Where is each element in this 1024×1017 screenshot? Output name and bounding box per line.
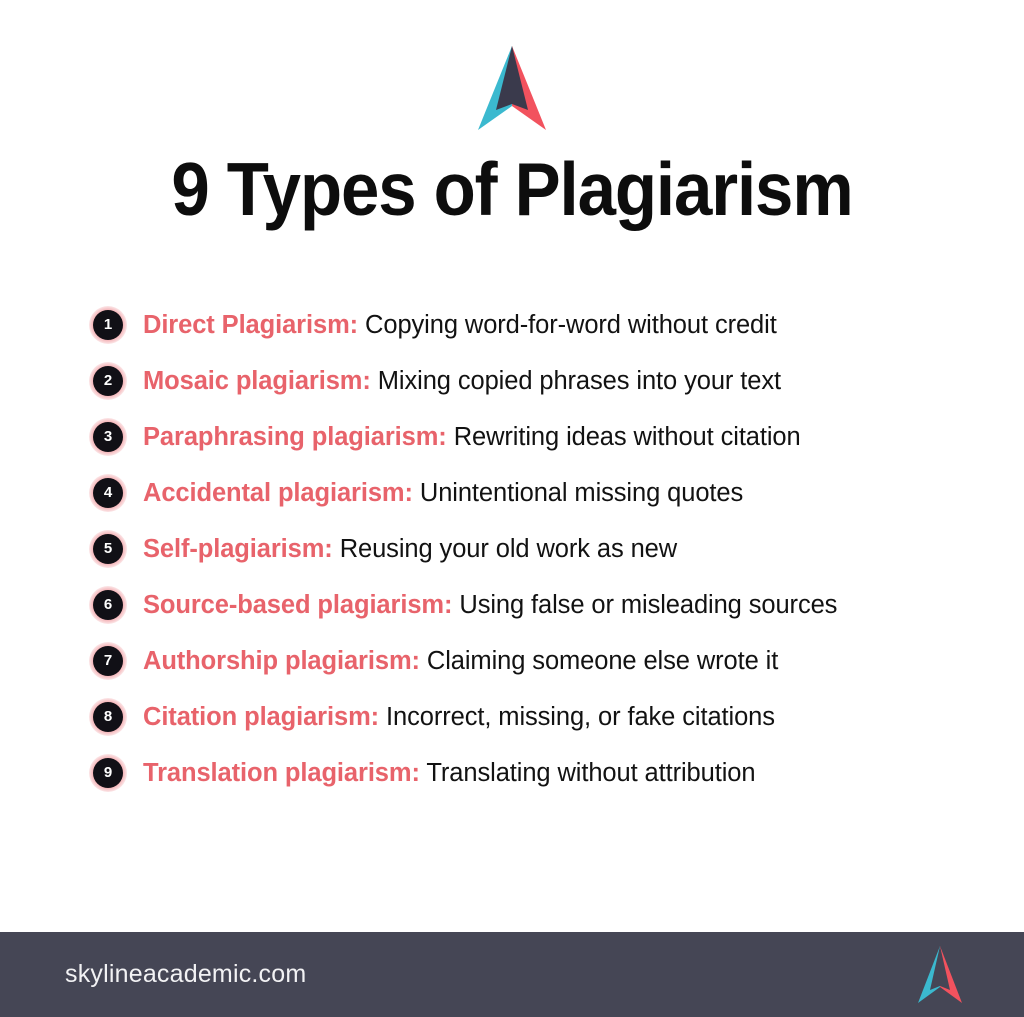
page-title-container: 9 Types of Plagiarism <box>0 152 1024 227</box>
list-item-label: Direct Plagiarism: <box>143 311 358 339</box>
list-item: 6 Source-based plagiarism: Using false o… <box>92 577 984 633</box>
list-item-number: 3 <box>93 422 123 452</box>
list-item-text: Source-based plagiarism: Using false or … <box>143 591 837 619</box>
list-item-number: 1 <box>93 310 123 340</box>
list-item-text: Self-plagiarism: Reusing your old work a… <box>143 535 677 563</box>
list-item-text: Accidental plagiarism: Unintentional mis… <box>143 479 743 507</box>
list-item: 4 Accidental plagiarism: Unintentional m… <box>92 465 984 521</box>
list-item-text: Authorship plagiarism: Claiming someone … <box>143 647 778 675</box>
plagiarism-types-list: 1 Direct Plagiarism: Copying word-for-wo… <box>92 297 984 801</box>
list-item-text: Citation plagiarism: Incorrect, missing,… <box>143 703 775 731</box>
list-item-number: 5 <box>93 534 123 564</box>
list-item-description: Rewriting ideas without citation <box>454 423 801 451</box>
list-item: 3 Paraphrasing plagiarism: Rewriting ide… <box>92 409 984 465</box>
list-item: 2 Mosaic plagiarism: Mixing copied phras… <box>92 353 984 409</box>
list-item-label: Self-plagiarism: <box>143 535 333 563</box>
list-item-badge: 5 <box>92 533 124 565</box>
list-item-description: Mixing copied phrases into your text <box>378 367 781 395</box>
list-item-label: Mosaic plagiarism: <box>143 367 371 395</box>
list-item-description: Translating without attribution <box>426 759 755 787</box>
list-item-badge: 4 <box>92 477 124 509</box>
list-item-number: 9 <box>93 758 123 788</box>
list-item-label: Source-based plagiarism: <box>143 591 452 619</box>
list-item-badge: 3 <box>92 421 124 453</box>
list-item-description: Claiming someone else wrote it <box>427 647 778 675</box>
list-item: 5 Self-plagiarism: Reusing your old work… <box>92 521 984 577</box>
list-item-badge: 8 <box>92 701 124 733</box>
list-item-text: Translation plagiarism: Translating with… <box>143 759 755 787</box>
list-item: 9 Translation plagiarism: Translating wi… <box>92 745 984 801</box>
list-item-badge: 6 <box>92 589 124 621</box>
skyline-arrow-logo-small-icon <box>914 945 966 1005</box>
list-item-badge: 9 <box>92 757 124 789</box>
list-item-label: Paraphrasing plagiarism: <box>143 423 447 451</box>
list-item-number: 7 <box>93 646 123 676</box>
list-item-badge: 7 <box>92 645 124 677</box>
list-item: 1 Direct Plagiarism: Copying word-for-wo… <box>92 297 984 353</box>
list-item-description: Incorrect, missing, or fake citations <box>386 703 775 731</box>
list-item-badge: 1 <box>92 309 124 341</box>
list-item-description: Reusing your old work as new <box>340 535 677 563</box>
list-item: 7 Authorship plagiarism: Claiming someon… <box>92 633 984 689</box>
list-item-number: 4 <box>93 478 123 508</box>
list-item-badge: 2 <box>92 365 124 397</box>
list-item-number: 6 <box>93 590 123 620</box>
list-item-description: Unintentional missing quotes <box>420 479 743 507</box>
infographic-poster: 9 Types of Plagiarism 1 Direct Plagiaris… <box>0 0 1024 1017</box>
skyline-arrow-logo-icon <box>470 44 554 132</box>
list-item-number: 2 <box>93 366 123 396</box>
list-item-label: Citation plagiarism: <box>143 703 379 731</box>
list-item-description: Using false or misleading sources <box>459 591 837 619</box>
list-item-text: Mosaic plagiarism: Mixing copied phrases… <box>143 367 781 395</box>
list-item-text: Direct Plagiarism: Copying word-for-word… <box>143 311 777 339</box>
footer-website-url: skylineacademic.com <box>65 960 306 989</box>
list-item-label: Authorship plagiarism: <box>143 647 420 675</box>
list-item: 8 Citation plagiarism: Incorrect, missin… <box>92 689 984 745</box>
list-item-description: Copying word-for-word without credit <box>365 311 777 339</box>
list-item-label: Translation plagiarism: <box>143 759 420 787</box>
list-item-number: 8 <box>93 702 123 732</box>
list-item-text: Paraphrasing plagiarism: Rewriting ideas… <box>143 423 801 451</box>
page-title: 9 Types of Plagiarism <box>41 152 983 227</box>
footer-bar: skylineacademic.com <box>0 932 1024 1017</box>
list-item-label: Accidental plagiarism: <box>143 479 413 507</box>
brand-logo-container <box>0 44 1024 136</box>
